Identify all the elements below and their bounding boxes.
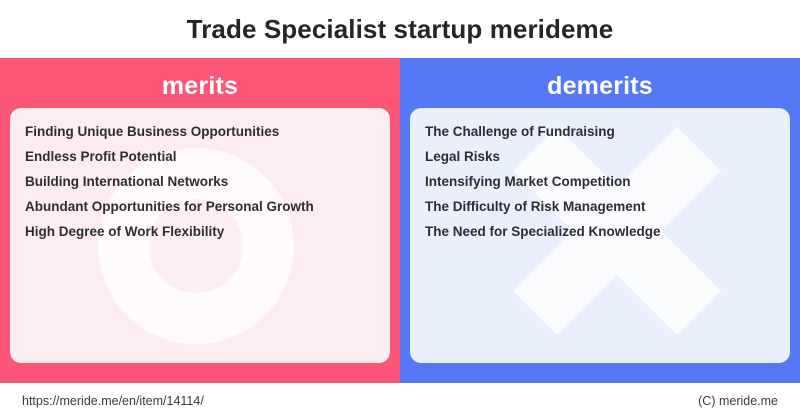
source-url[interactable]: https://meride.me/en/item/14114/ [22,394,204,408]
panel-merits: merits Finding Unique Business Opportuni… [0,58,400,383]
list-item: The Challenge of Fundraising [425,125,774,150]
card-demerits: The Challenge of Fundraising Legal Risks… [410,108,790,363]
list-item: Abundant Opportunities for Personal Grow… [25,200,374,225]
infographic-root: Trade Specialist startup merideme merits… [0,0,800,418]
title-bar: Trade Specialist startup merideme [0,0,800,58]
comparison-panels: merits Finding Unique Business Opportuni… [0,58,800,383]
list-item: The Need for Specialized Knowledge [425,225,774,250]
panel-heading-demerits: demerits [547,64,653,108]
panel-heading-merits: merits [162,64,238,108]
list-item: Finding Unique Business Opportunities [25,125,374,150]
list-item: The Difficulty of Risk Management [425,200,774,225]
page-title: Trade Specialist startup merideme [187,14,614,45]
list-item: Endless Profit Potential [25,150,374,175]
list-item: High Degree of Work Flexibility [25,225,374,250]
list-item: Legal Risks [425,150,774,175]
copyright-credit: (C) meride.me [698,394,778,408]
merits-list: Finding Unique Business Opportunities En… [10,108,390,250]
footer-bar: https://meride.me/en/item/14114/ (C) mer… [0,383,800,418]
panel-demerits: demerits The Challenge of Fundraising Le… [400,58,800,383]
demerits-list: The Challenge of Fundraising Legal Risks… [410,108,790,250]
list-item: Intensifying Market Competition [425,175,774,200]
card-merits: Finding Unique Business Opportunities En… [10,108,390,363]
list-item: Building International Networks [25,175,374,200]
